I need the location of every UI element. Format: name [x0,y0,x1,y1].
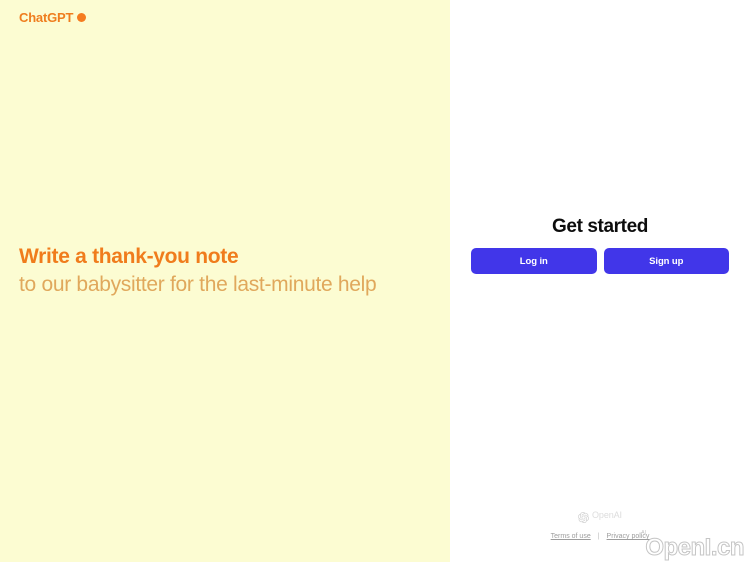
promo-headline-rest: to our babysitter for the last-minute he… [19,273,376,296]
privacy-policy-link[interactable]: Privacy policy [607,533,650,540]
page-footer: OpenAI Terms of use | Privacy policy [450,510,750,540]
get-started-block: Get started Log in Sign up [450,216,750,274]
promo-headline-bold: Write a thank-you note [19,245,238,268]
footer-links: Terms of use | Privacy policy [450,533,750,540]
chatgpt-brand-label: ChatGPT [19,11,73,24]
promo-headline: Write a thank-you note to our babysitter… [19,243,419,299]
openai-logo: OpenAI [450,510,750,521]
promo-headline-text: Write a thank-you note to our babysitter… [19,243,419,299]
chatgpt-welcome-page: ChatGPT Write a thank-you note to our ba… [0,0,750,562]
auth-button-group: Log in Sign up [450,248,750,274]
openai-logo-label: OpenAI [592,511,622,520]
openai-blossom-icon [578,510,589,521]
left-promo-panel: ChatGPT Write a thank-you note to our ba… [0,0,450,562]
footer-separator: | [598,533,600,540]
right-auth-panel: Get started Log in Sign up OpenAI Terms … [450,0,750,562]
signup-button[interactable]: Sign up [604,248,730,274]
get-started-title: Get started [450,216,750,238]
login-button[interactable]: Log in [471,248,597,274]
chatgpt-brand: ChatGPT [19,11,86,24]
terms-of-use-link[interactable]: Terms of use [551,533,591,540]
orange-dot-icon [77,13,86,22]
